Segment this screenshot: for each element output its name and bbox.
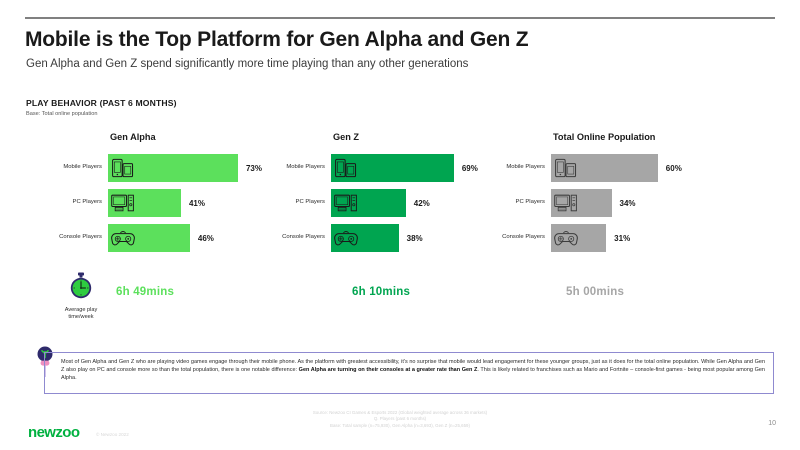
average-play-time-legend: Average play time/week [55, 272, 107, 321]
bar-fill [108, 224, 190, 252]
bar-row-label: Console Players [52, 234, 108, 241]
bar-row-console: Console Players [495, 224, 745, 252]
bar-row-mobile: Mobile Players 69% [275, 154, 525, 182]
bar-value-label: 73% [246, 164, 262, 173]
copyright-notice: © Newzoo 2022 [96, 432, 129, 437]
mobile-icon [333, 157, 359, 179]
bar-fill [331, 224, 399, 252]
bar-row-label: PC Players [275, 199, 331, 206]
mobile-icon [553, 157, 579, 179]
bar-fill [551, 154, 658, 182]
bar-row-console: Console Players [275, 224, 525, 252]
bar-track: 73% [108, 154, 302, 182]
bar-rows-total: Mobile Players 60% [495, 154, 745, 252]
bar-track: 41% [108, 189, 302, 217]
section-base-note: Base: Total online population [26, 111, 97, 117]
average-play-time-gen-alpha: 6h 49mins [116, 286, 174, 298]
bar-value-label: 34% [620, 199, 636, 208]
source-line-3: Base: Total sample (n=75,930), Gen Alpha… [0, 423, 800, 429]
source-note: Source: Newzoo CI Games & Esports 2022 (… [0, 410, 800, 429]
bar-row-label: Console Players [275, 234, 331, 241]
column-header-total: Total Online Population [553, 130, 745, 144]
bar-row-pc: PC Players [495, 189, 745, 217]
bar-track: 34% [551, 189, 745, 217]
chart-column-gen-alpha: Gen Alpha Mobile Players [52, 130, 302, 259]
average-play-time-caption: Average play time/week [55, 307, 107, 321]
page-title: Mobile is the Top Platform for Gen Alpha… [25, 28, 528, 52]
bar-track: 60% [551, 154, 745, 182]
bar-value-label: 46% [198, 234, 214, 243]
console-controller-icon [110, 227, 136, 249]
bar-track: 31% [551, 224, 745, 252]
average-play-time-band: Average play time/week 6h 49mins 6h 10mi… [0, 268, 800, 328]
bar-row-mobile: Mobile Players 73% [52, 154, 302, 182]
bar-rows-gen-z: Mobile Players 69% [275, 154, 525, 252]
pc-icon [333, 192, 359, 214]
bar-fill [331, 154, 454, 182]
bar-value-label: 41% [189, 199, 205, 208]
mobile-icon [110, 157, 136, 179]
bar-row-label: Mobile Players [495, 164, 551, 171]
page-number: 10 [768, 420, 776, 427]
bar-row-pc: PC Players [275, 189, 525, 217]
newzoo-logo: newzoo [28, 424, 79, 441]
chart-column-total-online-population: Total Online Population Mobile Players [495, 130, 745, 259]
console-controller-icon [553, 227, 579, 249]
bar-row-console: Console Players [52, 224, 302, 252]
bar-row-label: PC Players [52, 199, 108, 206]
stopwatch-icon [68, 287, 94, 304]
section-label: PLAY BEHAVIOR (PAST 6 MONTHS) [26, 98, 177, 108]
bar-fill [331, 189, 406, 217]
bar-row-pc: PC Players [52, 189, 302, 217]
bar-row-label: Mobile Players [52, 164, 108, 171]
bar-row-label: Console Players [495, 234, 551, 241]
bar-row-mobile: Mobile Players 60% [495, 154, 745, 182]
bar-value-label: 60% [666, 164, 682, 173]
bar-fill [551, 224, 606, 252]
bar-row-label: PC Players [495, 199, 551, 206]
insight-callout: Most of Gen Alpha and Gen Z who are play… [44, 352, 774, 394]
insight-callout-text: Most of Gen Alpha and Gen Z who are play… [61, 358, 765, 383]
bar-value-label: 42% [414, 199, 430, 208]
bar-fill [108, 189, 181, 217]
bar-value-label: 31% [614, 234, 630, 243]
page-subtitle: Gen Alpha and Gen Z spend significantly … [26, 58, 468, 70]
pc-icon [110, 192, 136, 214]
chart-column-gen-z: Gen Z Mobile Players [275, 130, 525, 259]
bar-fill [108, 154, 238, 182]
insight-text-bold: Gen Alpha are turning on their consoles … [299, 367, 478, 373]
column-header-gen-alpha: Gen Alpha [110, 130, 302, 144]
bar-fill [551, 189, 612, 217]
header-divider [25, 17, 775, 19]
bar-value-label: 38% [407, 234, 423, 243]
bar-value-label: 69% [462, 164, 478, 173]
average-play-time-gen-z: 6h 10mins [352, 286, 410, 298]
bar-track: 46% [108, 224, 302, 252]
bar-rows-gen-alpha: Mobile Players 73% [52, 154, 302, 252]
console-controller-icon [333, 227, 359, 249]
average-play-time-total: 5h 00mins [566, 286, 624, 298]
pc-icon [553, 192, 579, 214]
slide: Mobile is the Top Platform for Gen Alpha… [0, 0, 800, 450]
bar-row-label: Mobile Players [275, 164, 331, 171]
